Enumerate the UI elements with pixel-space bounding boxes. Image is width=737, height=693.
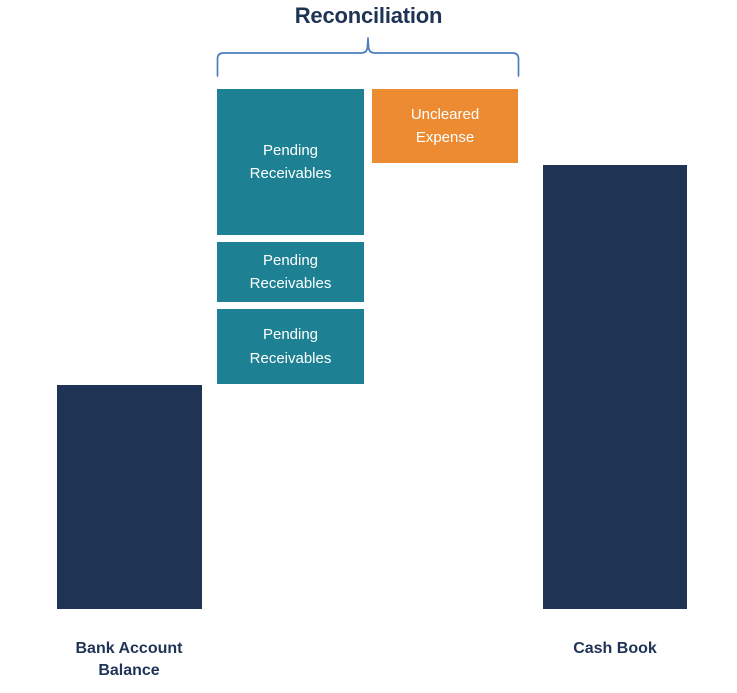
reconciliation-brace-icon [210,34,526,80]
chart-title: Reconciliation [0,3,737,29]
bar-label-uncleared-expense: Uncleared Expense [405,103,485,150]
bar-cash-book[interactable] [543,165,687,609]
bar-label-pending-receivables-2: Pending Receivables [244,249,338,296]
bar-pending-receivables-1[interactable]: Pending Receivables [217,89,364,235]
bar-uncleared-expense[interactable]: Uncleared Expense [372,89,518,163]
bar-bank-account-balance[interactable] [57,385,202,609]
bar-label-pending-receivables-1: Pending Receivables [244,139,338,186]
category-label-cash-book: Cash Book [515,638,715,660]
bar-pending-receivables-3[interactable]: Pending Receivables [217,309,364,384]
reconciliation-chart: Reconciliation Pending Receivables Uncle… [0,0,737,693]
bar-label-pending-receivables-3: Pending Receivables [244,323,338,370]
category-label-bank-account-balance: Bank Account Balance [29,638,229,683]
bar-pending-receivables-2[interactable]: Pending Receivables [217,242,364,302]
